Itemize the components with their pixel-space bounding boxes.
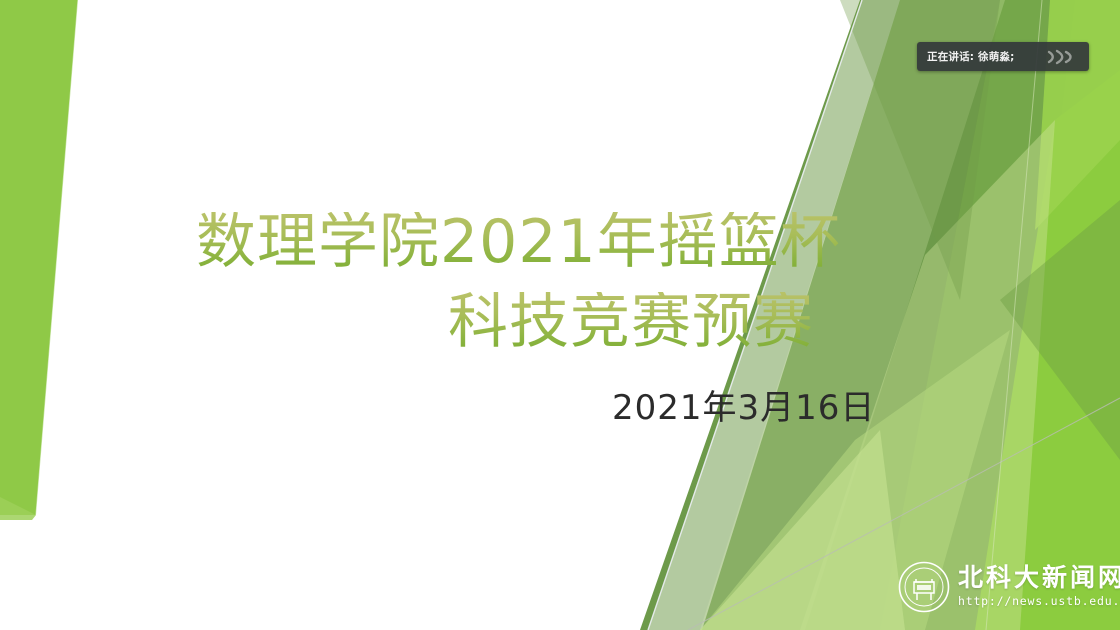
active-speaker-overlay[interactable]: 正在讲话: 徐萌淼;: [917, 42, 1089, 71]
audio-wave-icon: [1045, 49, 1079, 65]
presentation-slide-frame: 数理学院2021年摇篮杯 科技竞赛预赛 2021年3月16日 正在讲话: 徐萌淼…: [0, 0, 1120, 630]
slide-background-artwork: [0, 0, 1120, 630]
active-speaker-label: 正在讲话: 徐萌淼;: [927, 49, 1015, 64]
